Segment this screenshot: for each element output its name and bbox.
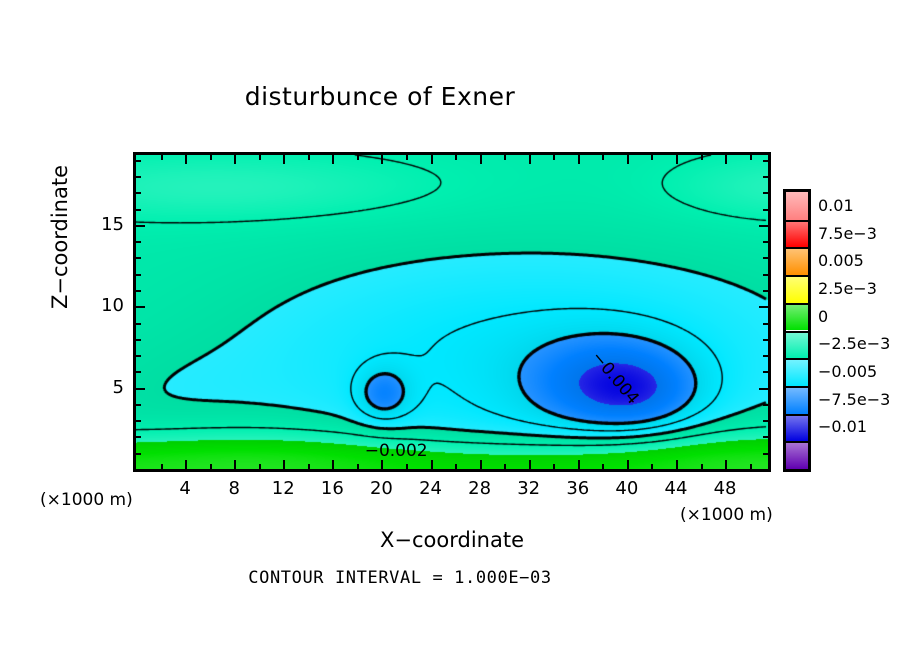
y-tick-right-12 (763, 274, 768, 276)
y-tick-label-10: 10 (92, 295, 124, 316)
x-tick-38 (602, 464, 604, 469)
x-tick-top-26 (455, 155, 457, 160)
x-axis-title: X−coordinate (133, 528, 771, 552)
x-tick-26 (455, 464, 457, 469)
y-tick-right-15 (759, 225, 768, 227)
y-tick-1 (136, 453, 141, 455)
y-tick-16 (136, 209, 141, 211)
x-tick-20 (381, 460, 383, 469)
x-tick-8 (234, 460, 236, 469)
colorbar-label-2: 0.005 (818, 251, 864, 270)
colorbar-segment-0 (786, 192, 808, 220)
y-tick-right-17 (763, 192, 768, 194)
y-tick-17 (136, 192, 141, 194)
x-tick-46 (701, 464, 703, 469)
colorbar-segment-4 (786, 303, 808, 331)
x-tick-32 (529, 460, 531, 469)
x-tick-18 (357, 464, 359, 469)
y-tick-4 (136, 404, 141, 406)
y-tick-label-15: 15 (92, 214, 124, 235)
y-tick-2 (136, 436, 141, 438)
y-tick-right-1 (763, 453, 768, 455)
x-tick-top-44 (676, 155, 678, 164)
colorbar-label-8: −0.01 (818, 417, 867, 436)
x-tick-top-46 (701, 155, 703, 160)
colorbar-segment-6 (786, 358, 808, 386)
x-tick-4 (185, 460, 187, 469)
colorbar-segment-9 (786, 441, 808, 469)
x-tick-top-18 (357, 155, 359, 160)
x-tick-22 (406, 464, 408, 469)
x-tick-top-2 (161, 155, 163, 160)
x-tick-top-32 (529, 155, 531, 164)
x-tick-top-10 (259, 155, 261, 160)
x-tick-top-34 (553, 155, 555, 160)
x-tick-28 (480, 460, 482, 469)
y-tick-8 (136, 339, 141, 341)
x-tick-top-36 (578, 155, 580, 164)
contour-label-1: −0.002 (365, 441, 428, 461)
y-tick-right-18 (763, 176, 768, 178)
x-tick-40 (627, 460, 629, 469)
y-tick-19 (136, 160, 141, 162)
x-tick-top-12 (283, 155, 285, 164)
y-tick-right-4 (763, 404, 768, 406)
y-tick-right-9 (763, 323, 768, 325)
y-tick-right-5 (759, 388, 768, 390)
colorbar-label-6: −0.005 (818, 362, 877, 381)
y-tick-right-14 (763, 241, 768, 243)
y-tick-14 (136, 241, 141, 243)
colorbar-segment-7 (786, 386, 808, 414)
x-tick-top-22 (406, 155, 408, 160)
y-tick-right-6 (763, 371, 768, 373)
x-tick-top-50 (750, 155, 752, 160)
x-tick-36 (578, 460, 580, 469)
x-tick-34 (553, 464, 555, 469)
y-tick-11 (136, 290, 141, 292)
x-tick-16 (332, 460, 334, 469)
y-tick-right-2 (763, 436, 768, 438)
x-tick-6 (210, 464, 212, 469)
x-tick-top-20 (381, 155, 383, 164)
colorbar (783, 189, 811, 472)
x-tick-top-16 (332, 155, 334, 164)
x-tick-top-30 (504, 155, 506, 160)
x-tick-12 (283, 460, 285, 469)
x-tick-2 (161, 464, 163, 469)
x-tick-24 (431, 460, 433, 469)
x-tick-top-28 (480, 155, 482, 164)
x-tick-label-48: 48 (695, 478, 755, 499)
x-tick-50 (750, 464, 752, 469)
x-tick-top-24 (431, 155, 433, 164)
y-tick-right-11 (763, 290, 768, 292)
y-tick-9 (136, 323, 141, 325)
x-tick-top-48 (725, 155, 727, 164)
y-tick-right-13 (763, 257, 768, 259)
colorbar-label-3: 2.5e−3 (818, 279, 877, 298)
colorbar-segment-1 (786, 220, 808, 248)
x-tick-top-4 (185, 155, 187, 164)
y-tick-5 (136, 388, 145, 390)
colorbar-label-4: 0 (818, 307, 828, 326)
colorbar-label-0: 0.01 (818, 196, 854, 215)
x-tick-48 (725, 460, 727, 469)
y-tick-label-5: 5 (92, 377, 124, 398)
colorbar-label-5: −2.5e−3 (818, 334, 890, 353)
y-tick-18 (136, 176, 141, 178)
y-tick-7 (136, 355, 141, 357)
x-tick-top-40 (627, 155, 629, 164)
y-tick-right-10 (759, 306, 768, 308)
x-tick-30 (504, 464, 506, 469)
x-tick-top-8 (234, 155, 236, 164)
y-tick-10 (136, 306, 145, 308)
x-axis-unit-label: (×1000 m) (680, 505, 773, 525)
y-tick-15 (136, 225, 145, 227)
x-tick-top-42 (651, 155, 653, 160)
colorbar-segment-5 (786, 331, 808, 359)
x-tick-top-6 (210, 155, 212, 160)
y-tick-6 (136, 371, 141, 373)
y-tick-12 (136, 274, 141, 276)
y-tick-13 (136, 257, 141, 259)
colorbar-segment-8 (786, 414, 808, 442)
x-tick-top-14 (308, 155, 310, 160)
y-tick-right-16 (763, 209, 768, 211)
y-tick-3 (136, 420, 141, 422)
y-tick-right-7 (763, 355, 768, 357)
contour-plot-area: −0.004−0.002 (133, 152, 771, 472)
contour-field-canvas (136, 155, 768, 469)
colorbar-label-1: 7.5e−3 (818, 224, 877, 243)
y-tick-right-8 (763, 339, 768, 341)
contour-interval-caption: CONTOUR INTERVAL = 1.000E−03 (0, 568, 800, 588)
x-tick-10 (259, 464, 261, 469)
x-tick-44 (676, 460, 678, 469)
y-axis-unit-label: (×1000 m) (40, 490, 133, 510)
colorbar-segment-2 (786, 247, 808, 275)
y-axis-title: Z−coordinate (48, 122, 72, 352)
y-tick-right-3 (763, 420, 768, 422)
x-tick-14 (308, 464, 310, 469)
x-tick-42 (651, 464, 653, 469)
page-title: disturbunce of Exner (0, 82, 760, 111)
colorbar-segment-3 (786, 275, 808, 303)
y-tick-right-19 (763, 160, 768, 162)
x-tick-top-38 (602, 155, 604, 160)
colorbar-label-7: −7.5e−3 (818, 390, 890, 409)
